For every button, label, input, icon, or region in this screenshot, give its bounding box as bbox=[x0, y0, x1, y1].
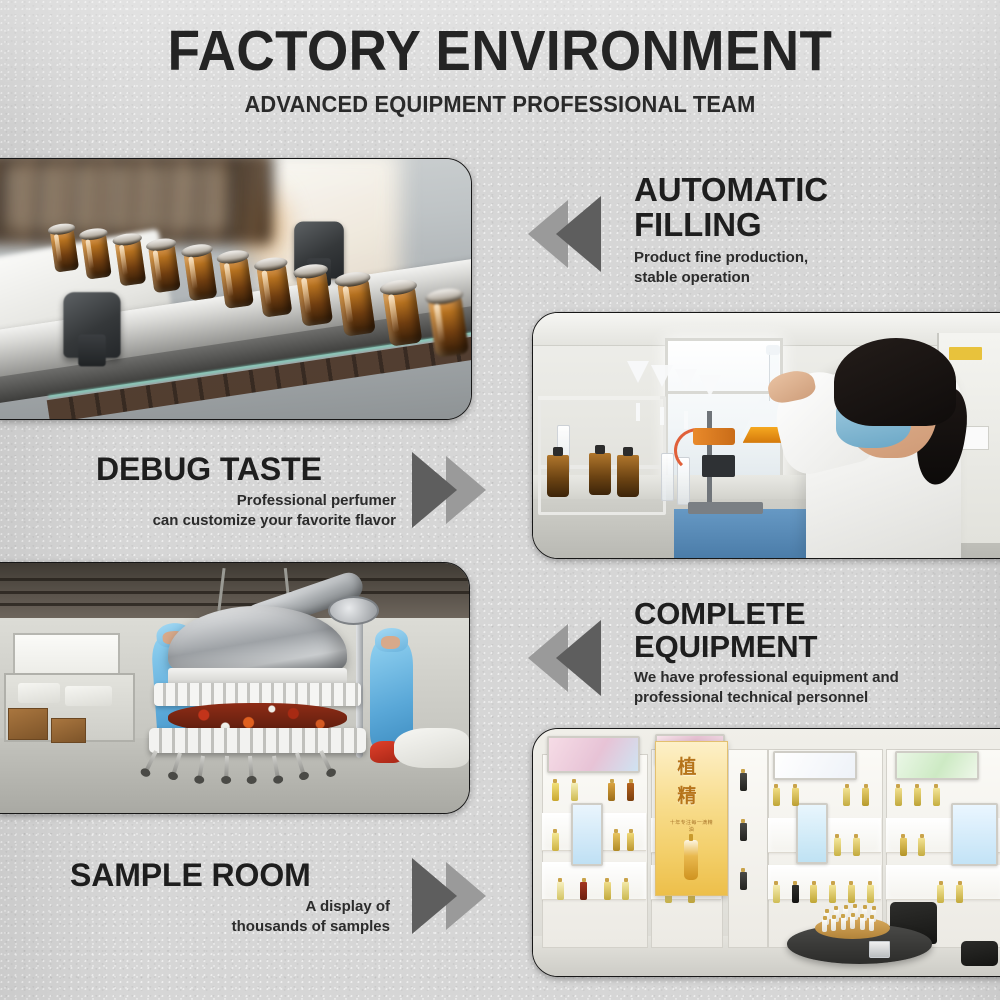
lab-stand-base bbox=[688, 502, 763, 514]
lab-amber-bottle bbox=[547, 455, 569, 497]
tray-sample-bottle bbox=[860, 917, 865, 930]
lit-shelf bbox=[768, 865, 881, 901]
arrow-front-triangle bbox=[412, 452, 457, 528]
sample-bottle bbox=[740, 872, 747, 890]
arrow-left-automatic-filling bbox=[528, 196, 620, 272]
vessel-bolt bbox=[224, 755, 229, 777]
caption-title: SAMPLE ROOM bbox=[70, 858, 390, 892]
sample-bottle bbox=[862, 788, 869, 806]
essential-oil-poster: 植 精 十年专注每一滴精油 bbox=[655, 741, 728, 896]
lab-cabinet-label bbox=[949, 347, 982, 359]
technician-hair bbox=[834, 338, 956, 426]
caption-description: A display of thousands of samples bbox=[70, 897, 390, 937]
sample-bottle bbox=[956, 885, 963, 903]
photo-sample-showroom: 植 精 十年专注每一滴精油 bbox=[532, 728, 1000, 977]
advertising-lightbox bbox=[773, 751, 857, 780]
sample-bottle bbox=[843, 788, 850, 806]
lab-black-clamp bbox=[702, 455, 735, 477]
arrow-right-debug-taste bbox=[398, 452, 490, 528]
sample-bottle bbox=[900, 838, 907, 856]
sample-bottle bbox=[552, 833, 559, 851]
sample-bottle bbox=[867, 885, 874, 903]
sample-bottle bbox=[918, 838, 925, 856]
lab-amber-bottle bbox=[617, 455, 639, 497]
sample-bottle bbox=[627, 833, 634, 851]
water-glass bbox=[869, 941, 890, 958]
arrow-front-triangle bbox=[412, 858, 457, 934]
worker-blue-suit bbox=[370, 628, 412, 748]
sample-bottle bbox=[792, 788, 799, 806]
sample-bottle bbox=[792, 885, 799, 903]
cardboard-box bbox=[51, 718, 86, 743]
white-sack bbox=[65, 686, 112, 706]
advertising-lightbox bbox=[796, 803, 828, 864]
vessel-flange bbox=[328, 596, 379, 625]
sample-bottle bbox=[937, 885, 944, 903]
tray-sample-bottle bbox=[850, 916, 855, 929]
page-subtitle: ADVANCED EQUIPMENT PROFESSIONAL TEAM bbox=[25, 91, 975, 118]
advertising-lightbox bbox=[571, 803, 603, 866]
sample-bottle bbox=[810, 885, 817, 903]
worker-face bbox=[381, 636, 400, 649]
lab-funnel bbox=[675, 369, 697, 391]
caption-description: Professional perfumer can customize your… bbox=[96, 491, 396, 531]
caption-title: DEBUG TASTE bbox=[96, 452, 396, 486]
arrow-left-complete-equipment bbox=[528, 620, 620, 696]
sample-bottle bbox=[773, 885, 780, 903]
lab-flask-stopper bbox=[766, 345, 780, 355]
advertising-lightbox bbox=[547, 736, 640, 772]
arrow-front-triangle bbox=[556, 196, 601, 272]
advertising-lightbox bbox=[895, 751, 979, 780]
page-header: FACTORY ENVIRONMENT ADVANCED EQUIPMENT P… bbox=[0, 22, 1000, 118]
sample-bottle bbox=[740, 773, 747, 791]
sample-bottle bbox=[933, 788, 940, 806]
sample-bottle bbox=[613, 833, 620, 851]
photo-extraction-equipment bbox=[0, 562, 470, 814]
sample-bottle bbox=[773, 788, 780, 806]
sample-bottle bbox=[580, 882, 587, 900]
tray-sample-bottle bbox=[869, 918, 874, 931]
roof-beam bbox=[0, 591, 469, 594]
sample-bottle bbox=[834, 838, 841, 856]
lab-shelf-rail bbox=[538, 396, 660, 400]
lab-funnel bbox=[627, 361, 649, 383]
sample-bottle bbox=[848, 885, 855, 903]
poster-char-1: 植 bbox=[677, 758, 696, 777]
sample-bottle bbox=[829, 885, 836, 903]
cardboard-box bbox=[8, 708, 48, 740]
sample-bottle bbox=[853, 838, 860, 856]
arrow-right-sample-room bbox=[398, 858, 490, 934]
display-cabinet bbox=[728, 749, 768, 949]
sample-bottle bbox=[740, 823, 747, 841]
poster-oil-bottle bbox=[684, 840, 698, 880]
filling-background-blur-row bbox=[8, 164, 225, 232]
advertising-lightbox bbox=[951, 803, 997, 866]
tray-sample-bottle bbox=[831, 918, 836, 931]
photo-automatic-filling bbox=[0, 158, 472, 420]
sample-bottle bbox=[914, 788, 921, 806]
lab-amber-bottle bbox=[589, 453, 611, 495]
white-material-sack bbox=[394, 728, 469, 768]
lab-funnel bbox=[651, 365, 673, 387]
page-title: FACTORY ENVIRONMENT bbox=[35, 22, 965, 82]
tray-sample-bottle bbox=[841, 917, 846, 930]
caption-title: AUTOMATIC FILLING bbox=[634, 172, 984, 243]
lab-funnel bbox=[699, 375, 721, 397]
photo-laboratory-debug-taste bbox=[532, 312, 1000, 559]
caption-title: COMPLETE EQUIPMENT bbox=[634, 597, 986, 663]
lab-orange-clamp bbox=[693, 428, 735, 445]
caption-automatic-filling: AUTOMATIC FILLING Product fine productio… bbox=[634, 172, 984, 287]
lab-glass-bottle bbox=[661, 453, 674, 501]
sample-bottle bbox=[895, 788, 902, 806]
caption-description: We have professional equipment and profe… bbox=[634, 668, 986, 708]
vessel-lower-clamp-ring bbox=[149, 728, 365, 753]
sample-bottle bbox=[627, 783, 634, 801]
arrow-front-triangle bbox=[556, 620, 601, 696]
showroom-chair bbox=[961, 941, 999, 966]
sample-bottle bbox=[604, 882, 611, 900]
sample-bottle bbox=[552, 783, 559, 801]
tray-sample-bottle bbox=[822, 919, 827, 932]
sample-bottle bbox=[571, 783, 578, 801]
caption-sample-room: SAMPLE ROOM A display of thousands of sa… bbox=[70, 858, 390, 937]
caption-complete-equipment: COMPLETE EQUIPMENT We have professional … bbox=[634, 597, 986, 708]
filling-machine-knob bbox=[63, 292, 120, 358]
caption-description: Product fine production, stable operatio… bbox=[634, 248, 984, 288]
sample-bottle bbox=[608, 783, 615, 801]
poster-char-3: 精 bbox=[677, 787, 696, 806]
roof-beam bbox=[0, 578, 469, 581]
poster-subtitle: 十年专注每一滴精油 bbox=[667, 819, 715, 833]
white-sack bbox=[18, 683, 60, 703]
sample-bottle bbox=[622, 882, 629, 900]
caption-debug-taste: DEBUG TASTE Professional perfumer can cu… bbox=[96, 452, 396, 531]
sample-bottle bbox=[557, 882, 564, 900]
